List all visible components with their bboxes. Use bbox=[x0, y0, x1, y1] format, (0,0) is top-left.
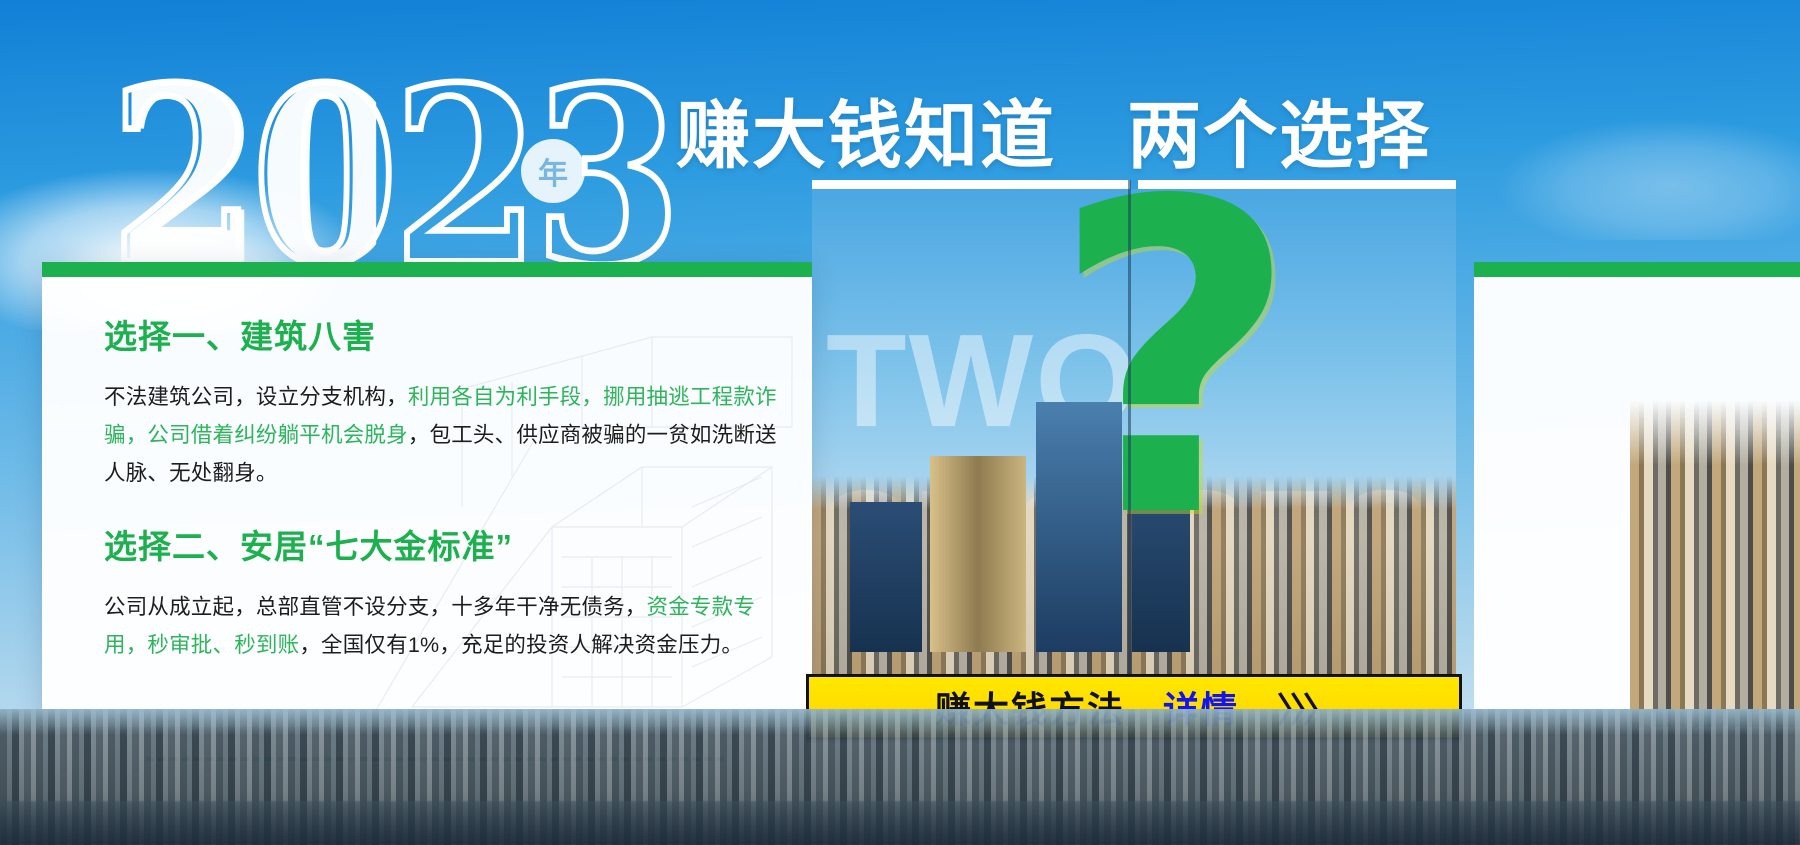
cloud-decoration bbox=[1500, 120, 1800, 240]
section-two-title: 选择二、安居“七大金标准” bbox=[104, 520, 784, 568]
bottom-water-reflection bbox=[0, 801, 1800, 845]
question-mark-icon: ? bbox=[1050, 197, 1299, 527]
text-run: ，全国仅有1%，充足的投资人解决资金压力。 bbox=[299, 633, 743, 657]
content-card: 选择一、建筑八害 不法建筑公司，设立分支机构，利用各自为利手段，挪用抽逃工程款诈… bbox=[42, 262, 812, 727]
hero-rule-right bbox=[1138, 180, 1456, 189]
section-two-body: 公司从成立起，总部直管不设分支，十多年干净无债务，资金专款专用，秒审批、秒到账，… bbox=[104, 588, 780, 664]
year-solid-text: 2023 bbox=[116, 62, 682, 292]
poster-canvas: 2023 2023 年 赚大钱知道 两个选择 TWO CHOICES ? bbox=[0, 0, 1800, 845]
card-accent-bar bbox=[42, 262, 812, 277]
headline-part-two: 两个选择 bbox=[1127, 94, 1431, 177]
section-one: 选择一、建筑八害 不法建筑公司，设立分支机构，利用各自为利手段，挪用抽逃工程款诈… bbox=[104, 310, 784, 492]
hero-rule-left bbox=[812, 180, 1130, 189]
section-one-body: 不法建筑公司，设立分支机构，利用各自为利手段，挪用抽逃工程款诈骗，公司借着纠纷躺… bbox=[104, 378, 780, 492]
year-graphic: 2023 2023 bbox=[110, 62, 730, 272]
right-panel-accent-bar bbox=[1474, 262, 1800, 277]
right-skyline-photo bbox=[1630, 400, 1800, 727]
text-run: 不法建筑公司，设立分支机构， bbox=[104, 385, 408, 409]
hero-building bbox=[930, 456, 1026, 652]
text-run: 公司从成立起，总部直管不设分支，十多年干净无债务， bbox=[104, 595, 647, 619]
hero-vertical-divider bbox=[1128, 180, 1131, 680]
year-unit-badge: 年 bbox=[521, 139, 585, 203]
section-two: 选择二、安居“七大金标准” 公司从成立起，总部直管不设分支，十多年干净无债务，资… bbox=[104, 520, 784, 664]
headline-part-one: 赚大钱知道 bbox=[676, 94, 1056, 177]
hero-panel: TWO CHOICES ? bbox=[812, 189, 1456, 686]
section-one-title: 选择一、建筑八害 bbox=[104, 310, 784, 358]
hero-building bbox=[850, 502, 922, 652]
year-outline-text: 2023 bbox=[110, 62, 718, 292]
page-title: 赚大钱知道 两个选择 bbox=[676, 76, 1431, 183]
